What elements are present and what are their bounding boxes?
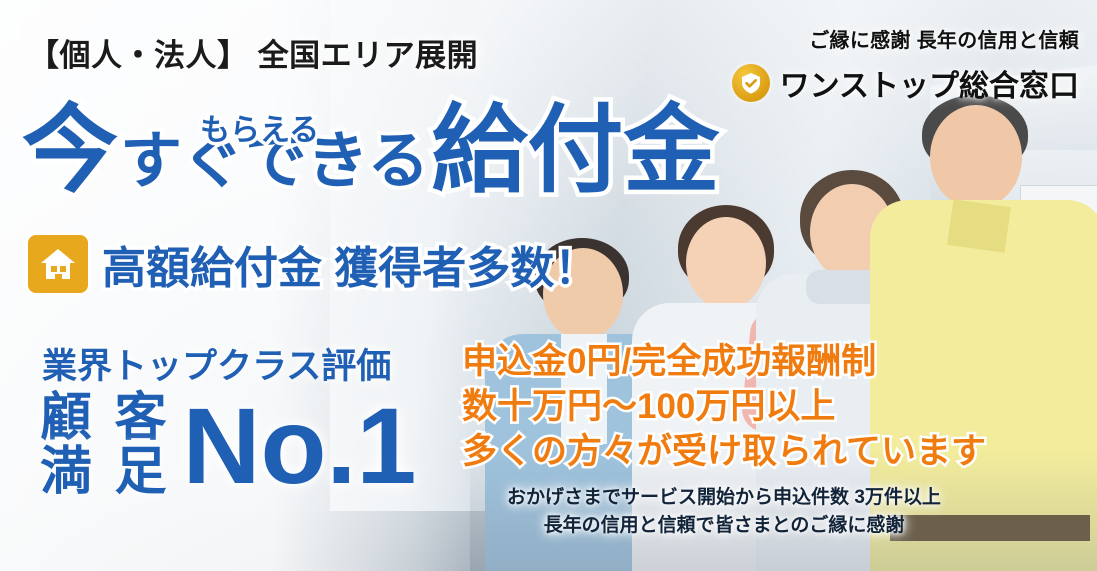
top-left-tagline: 【個人・法人】 全国エリア展開	[28, 30, 478, 75]
headline-part3: 給付金	[431, 103, 719, 199]
headline-part1: 今	[22, 103, 118, 199]
offer-line-2: 数十万円～100万円以上	[462, 385, 986, 430]
offer-note: おかげさまでサービス開始から申込件数 3万件以上 長年の信用と信頼で皆さまとのご…	[462, 484, 986, 539]
satisfaction-line1: 顧 客	[40, 392, 170, 446]
trust-tagline: ご縁に感謝 長年の信用と信頼	[732, 24, 1079, 53]
shield-check-icon	[732, 64, 770, 102]
house-icon	[28, 235, 88, 293]
subhead-row: 高額給付金 獲得者多数！	[28, 232, 598, 296]
subhead-text: 高額給付金 獲得者多数！	[102, 232, 598, 296]
promo-banner: 【個人・法人】 全国エリア展開 ご縁に感謝 長年の信用と信頼 ワンストップ総合窓…	[0, 0, 1097, 571]
offer-line-1: 申込金0円/完全成功報酬制	[462, 340, 986, 385]
rank-number: No.1	[182, 392, 416, 500]
one-stop-row: ワンストップ総合窓口	[732, 61, 1079, 105]
text-layer: 【個人・法人】 全国エリア展開 ご縁に感謝 長年の信用と信頼 ワンストップ総合窓…	[0, 0, 1097, 571]
headline-ruby: もらえる	[200, 105, 319, 149]
offer-block: 申込金0円/完全成功報酬制 数十万円～100万円以上 多くの方々が受け取られてい…	[462, 340, 986, 539]
headline: 今 すぐできる 給付金	[22, 103, 719, 199]
offer-line-3: 多くの方々が受け取られています	[462, 430, 986, 475]
industry-eval-text: 業界トップクラス評価	[42, 338, 391, 389]
satisfaction-label: 顧 客 満 足	[40, 392, 170, 499]
offer-note-1: おかげさまでサービス開始から申込件数 3万件以上	[462, 484, 986, 512]
top-right-block: ご縁に感謝 長年の信用と信頼 ワンストップ総合窓口	[732, 24, 1079, 105]
satisfaction-block: 顧 客 満 足 No.1	[40, 392, 417, 500]
satisfaction-line2: 満 足	[40, 446, 170, 500]
offer-note-2: 長年の信用と信頼で皆さまとのご縁に感謝	[462, 512, 986, 540]
one-stop-label: ワンストップ総合窓口	[780, 61, 1079, 105]
